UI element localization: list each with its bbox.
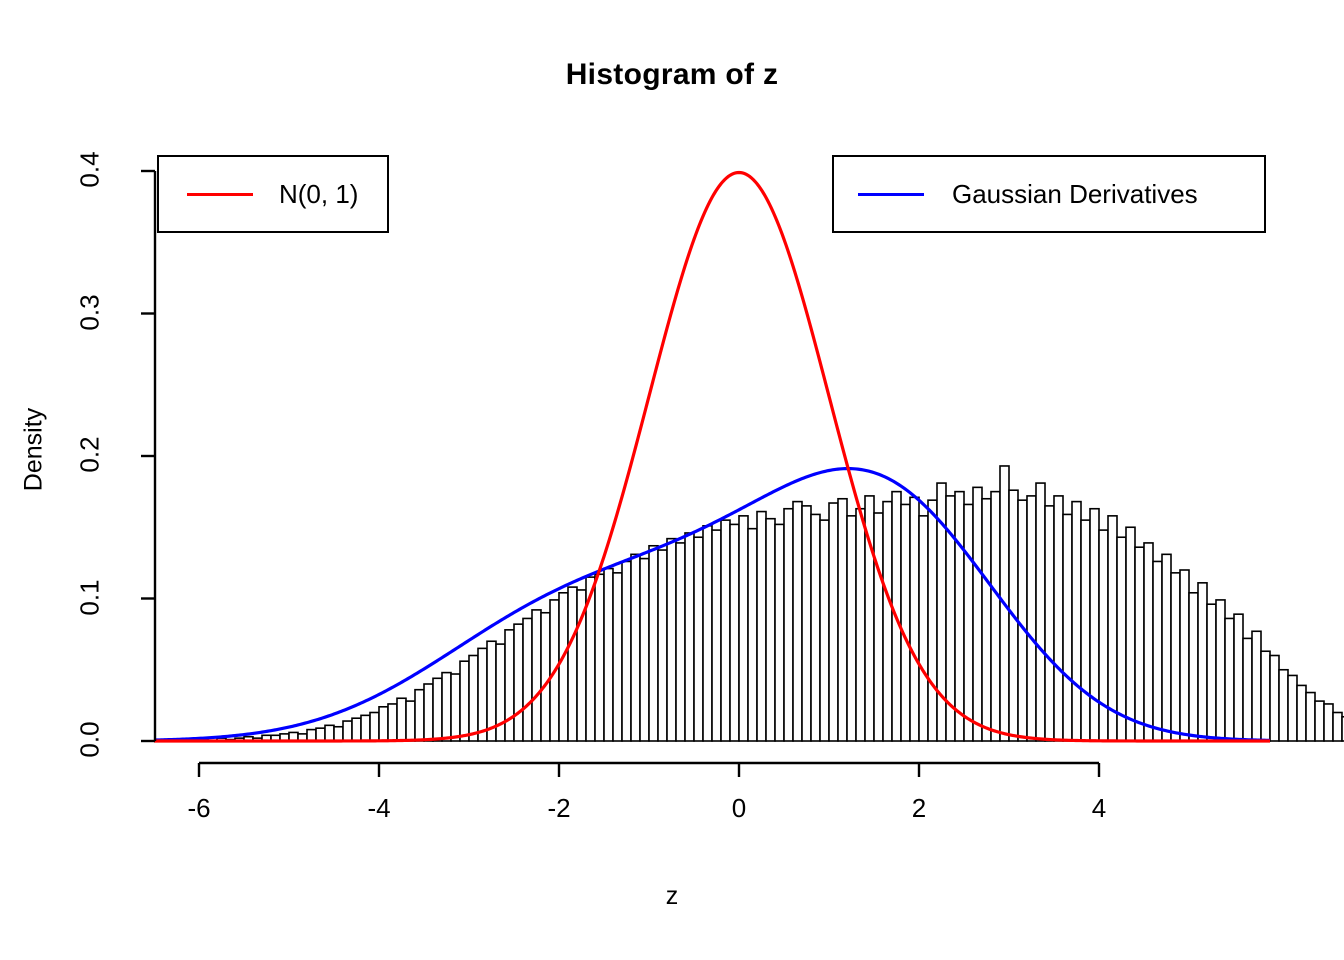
histogram-bar (379, 707, 388, 741)
histogram-bar (1234, 614, 1243, 741)
histogram-bar (847, 516, 856, 741)
histogram-bar (1144, 543, 1153, 741)
histogram-bar (928, 500, 937, 741)
histogram-bar (793, 502, 802, 741)
histogram-bar (1252, 631, 1261, 741)
histogram-bar (397, 698, 406, 741)
histogram-bar (820, 520, 829, 741)
histogram-bar (1225, 618, 1234, 741)
histogram-bar (829, 503, 838, 741)
histogram-bar (649, 546, 658, 741)
histogram-bar (1324, 704, 1333, 741)
histogram-bar (325, 725, 334, 741)
legend-label-normal: N(0, 1) (279, 179, 358, 210)
histogram-bar (982, 499, 991, 741)
histogram-bar (919, 516, 928, 741)
histogram-bar (541, 613, 550, 741)
histogram-bar (388, 704, 397, 741)
histogram-bar (991, 492, 1000, 741)
histogram-bar (1162, 554, 1171, 741)
x-axis-label: z (0, 882, 1344, 911)
histogram-bar (901, 504, 910, 741)
histogram-bar (730, 524, 739, 741)
histogram-bar (640, 559, 649, 741)
histogram-bar (1072, 502, 1081, 741)
histogram-bar (955, 492, 964, 741)
histogram-bar (406, 701, 415, 741)
histogram-bar (1315, 701, 1324, 741)
legend-label-gaussian-derivatives: Gaussian Derivatives (952, 179, 1198, 210)
histogram-bar (415, 690, 424, 741)
histogram-bar (739, 516, 748, 741)
histogram-bar (451, 674, 460, 741)
histogram-bar (964, 504, 973, 741)
histogram-bar (1297, 685, 1306, 741)
histogram-bar (1153, 561, 1162, 741)
histogram-bar (361, 715, 370, 741)
histogram-bar (532, 610, 541, 741)
histogram-bar (1207, 604, 1216, 741)
histogram-bar (667, 539, 676, 741)
histogram-bar (883, 502, 892, 741)
histogram-bar (1135, 547, 1144, 741)
histogram-bar (514, 624, 523, 741)
y-tick-label: 0.2 (75, 415, 106, 495)
histogram-bar (775, 524, 784, 741)
histogram-bar (1099, 530, 1108, 741)
histogram-bar (1306, 693, 1315, 741)
x-tick-label: 2 (879, 793, 959, 824)
y-tick-label: 0.4 (75, 130, 106, 210)
histogram-bar (658, 550, 667, 741)
histogram-bar (343, 721, 352, 741)
histogram-bar (1027, 496, 1036, 741)
histogram-bar (307, 730, 316, 741)
x-tick-label: -6 (159, 793, 239, 824)
chart-canvas: Histogram of z -6-4-2024 0.00.10.20.30.4… (0, 0, 1344, 960)
histogram-bar (973, 487, 982, 741)
histogram-bar (811, 514, 820, 741)
histogram-bar (1333, 713, 1342, 742)
histogram-bar (1036, 483, 1045, 741)
histogram-bar (838, 499, 847, 741)
y-tick-label: 0.3 (75, 272, 106, 352)
histogram-bar (442, 673, 451, 741)
histogram-bar (802, 506, 811, 741)
histogram-bar (766, 519, 775, 741)
histogram-bar (685, 533, 694, 741)
histogram-bar (1288, 675, 1297, 741)
histogram-bar (478, 648, 487, 741)
histogram-bar (721, 520, 730, 741)
histogram-bar (1243, 638, 1252, 741)
histogram-bar (748, 529, 757, 741)
histogram-bar (1090, 509, 1099, 741)
histogram-bar (352, 718, 361, 741)
x-tick-label: -4 (339, 793, 419, 824)
histogram-bar (505, 630, 514, 741)
histogram-bar (703, 526, 712, 741)
histogram-bar (523, 618, 532, 741)
histogram-bar (613, 573, 622, 741)
histogram-bar (1279, 670, 1288, 741)
histogram-bar (370, 713, 379, 742)
y-tick-label: 0.0 (75, 700, 106, 780)
histogram-bar (712, 530, 721, 741)
histogram-bar (1270, 656, 1279, 742)
histogram-bar (1081, 520, 1090, 741)
histogram-bar (856, 509, 865, 741)
y-tick-label: 0.1 (75, 557, 106, 637)
histogram-bar (334, 727, 343, 741)
histogram-bar (460, 661, 469, 741)
histogram-bar (604, 569, 613, 741)
histogram-bar (694, 537, 703, 741)
histogram-bar (1045, 506, 1054, 741)
x-axis (199, 763, 1099, 777)
histogram-bar (622, 561, 631, 741)
histogram-bar (595, 574, 604, 741)
histogram-bar (757, 512, 766, 741)
histogram-bar (676, 543, 685, 741)
histogram-bar (1117, 537, 1126, 741)
histogram-bar (1171, 573, 1180, 741)
histogram-bar (469, 656, 478, 742)
histogram-bar (910, 497, 919, 741)
x-tick-label: 0 (699, 793, 779, 824)
histogram-bar (784, 509, 793, 741)
histogram-bar (1216, 600, 1225, 741)
legend-line-swatch-blue (858, 193, 924, 196)
histogram-bar (1180, 570, 1189, 741)
legend-line-swatch-red (187, 193, 253, 196)
histogram-bar (1054, 496, 1063, 741)
histogram-bar (1189, 593, 1198, 741)
y-axis-label: Density (20, 390, 49, 510)
histogram-bar (424, 684, 433, 741)
histogram-bar (559, 593, 568, 741)
histogram-bar (1018, 500, 1027, 741)
histogram-bar (1063, 514, 1072, 741)
x-tick-label: 4 (1059, 793, 1139, 824)
x-tick-label: -2 (519, 793, 599, 824)
histogram-bar (631, 554, 640, 741)
histogram-bar (1261, 651, 1270, 741)
histogram-bar (874, 513, 883, 741)
histogram-bar (568, 587, 577, 741)
legend-gaussian-derivatives[interactable]: Gaussian Derivatives (832, 155, 1266, 233)
histogram-bar (1126, 527, 1135, 741)
legend-normal[interactable]: N(0, 1) (157, 155, 389, 233)
y-axis (141, 171, 155, 741)
histogram-bar (316, 728, 325, 741)
histogram-bars (172, 466, 1344, 741)
histogram-bar (1198, 583, 1207, 741)
histogram-bar (433, 678, 442, 741)
